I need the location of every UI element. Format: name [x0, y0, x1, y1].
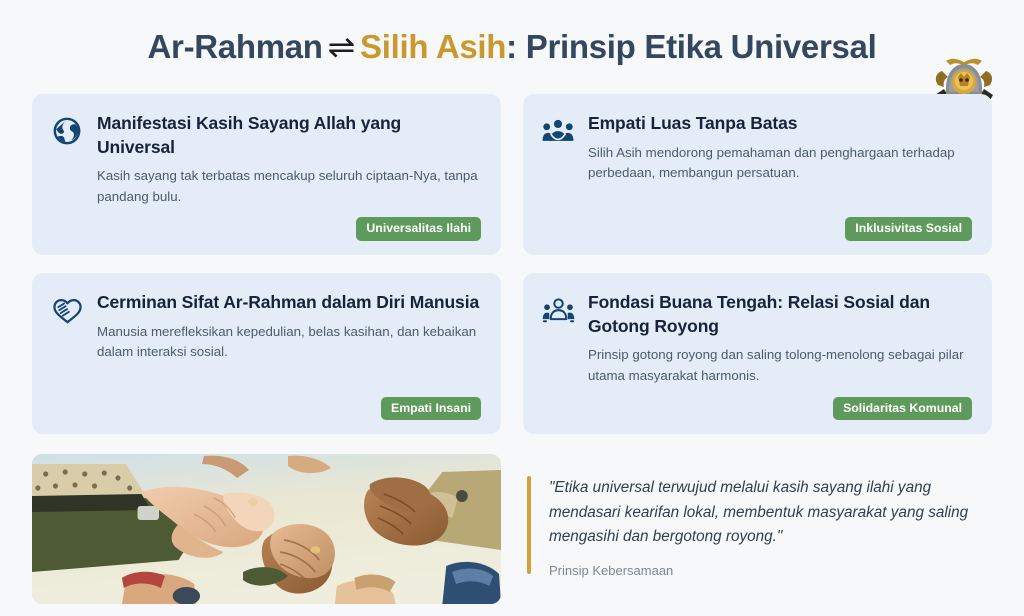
card-header: Fondasi Buana Tengah: Relasi Sosial dan …: [541, 291, 972, 386]
quote-accent-bar: [527, 476, 531, 574]
page-header: Ar-Rahman⇌Silih Asih: Prinsip Etika Univ…: [32, 0, 992, 92]
people-group-icon: [541, 114, 575, 148]
status-badge[interactable]: Empati Insani: [381, 397, 481, 421]
bottom-section: "Etika universal terwujud melalui kasih …: [32, 454, 992, 604]
title-highlight: Silih Asih: [360, 28, 506, 65]
card-header: Manifestasi Kasih Sayang Allah yang Univ…: [50, 112, 481, 207]
community-diversity-icon: [541, 293, 575, 327]
badge-row: Universalitas Ilahi: [50, 207, 481, 241]
infographic-page: Ar-Rahman⇌Silih Asih: Prinsip Etika Univ…: [0, 0, 1024, 616]
quote-block: "Etika universal terwujud melalui kasih …: [523, 454, 992, 604]
status-badge[interactable]: Inklusivitas Sosial: [845, 217, 972, 241]
status-badge[interactable]: Universalitas Ilahi: [356, 217, 481, 241]
card-universalitas-ilahi[interactable]: Manifestasi Kasih Sayang Allah yang Univ…: [32, 94, 501, 255]
card-inklusivitas-sosial[interactable]: Empati Luas Tanpa Batas Silih Asih mendo…: [523, 94, 992, 255]
card-text: Empati Luas Tanpa Batas Silih Asih mendo…: [588, 112, 972, 184]
badge-row: Empati Insani: [50, 387, 481, 421]
card-title: Manifestasi Kasih Sayang Allah yang Univ…: [97, 112, 481, 159]
card-text: Fondasi Buana Tengah: Relasi Sosial dan …: [588, 291, 972, 386]
status-badge[interactable]: Solidaritas Komunal: [833, 397, 972, 421]
card-description: Kasih sayang tak terbatas mencakup selur…: [97, 166, 481, 207]
card-text: Manifestasi Kasih Sayang Allah yang Univ…: [97, 112, 481, 207]
card-title: Cerminan Sifat Ar-Rahman dalam Diri Manu…: [97, 291, 481, 315]
globe-icon: [50, 114, 84, 148]
title-part-two: : Prinsip Etika Universal: [506, 28, 876, 65]
card-header: Cerminan Sifat Ar-Rahman dalam Diri Manu…: [50, 291, 481, 363]
principle-cards-grid: Manifestasi Kasih Sayang Allah yang Univ…: [32, 94, 992, 434]
title-part-one: Ar-Rahman: [148, 28, 323, 65]
card-header: Empati Luas Tanpa Batas Silih Asih mendo…: [541, 112, 972, 184]
card-text: Cerminan Sifat Ar-Rahman dalam Diri Manu…: [97, 291, 481, 363]
joined-hands-photo: [32, 454, 501, 604]
quote-source: Prinsip Kebersamaan: [549, 563, 992, 578]
card-title: Fondasi Buana Tengah: Relasi Sosial dan …: [588, 291, 972, 338]
card-description: Silih Asih mendorong pemahaman dan pengh…: [588, 143, 972, 184]
card-description: Prinsip gotong royong dan saling tolong-…: [588, 345, 972, 386]
card-description: Manusia merefleksikan kepedulian, belas …: [97, 322, 481, 363]
page-title: Ar-Rahman⇌Silih Asih: Prinsip Etika Univ…: [148, 30, 877, 63]
badge-row: Solidaritas Komunal: [541, 387, 972, 421]
card-solidaritas-komunal[interactable]: Fondasi Buana Tengah: Relasi Sosial dan …: [523, 273, 992, 434]
card-empati-insani[interactable]: Cerminan Sifat Ar-Rahman dalam Diri Manu…: [32, 273, 501, 434]
card-title: Empati Luas Tanpa Batas: [588, 112, 972, 136]
equilibrium-arrow-icon: ⇌: [323, 28, 360, 65]
quote-text: "Etika universal terwujud melalui kasih …: [549, 476, 992, 549]
quote-content: "Etika universal terwujud melalui kasih …: [549, 476, 992, 577]
badge-row: Inklusivitas Sosial: [541, 207, 972, 241]
handshake-heart-icon: [50, 293, 84, 327]
